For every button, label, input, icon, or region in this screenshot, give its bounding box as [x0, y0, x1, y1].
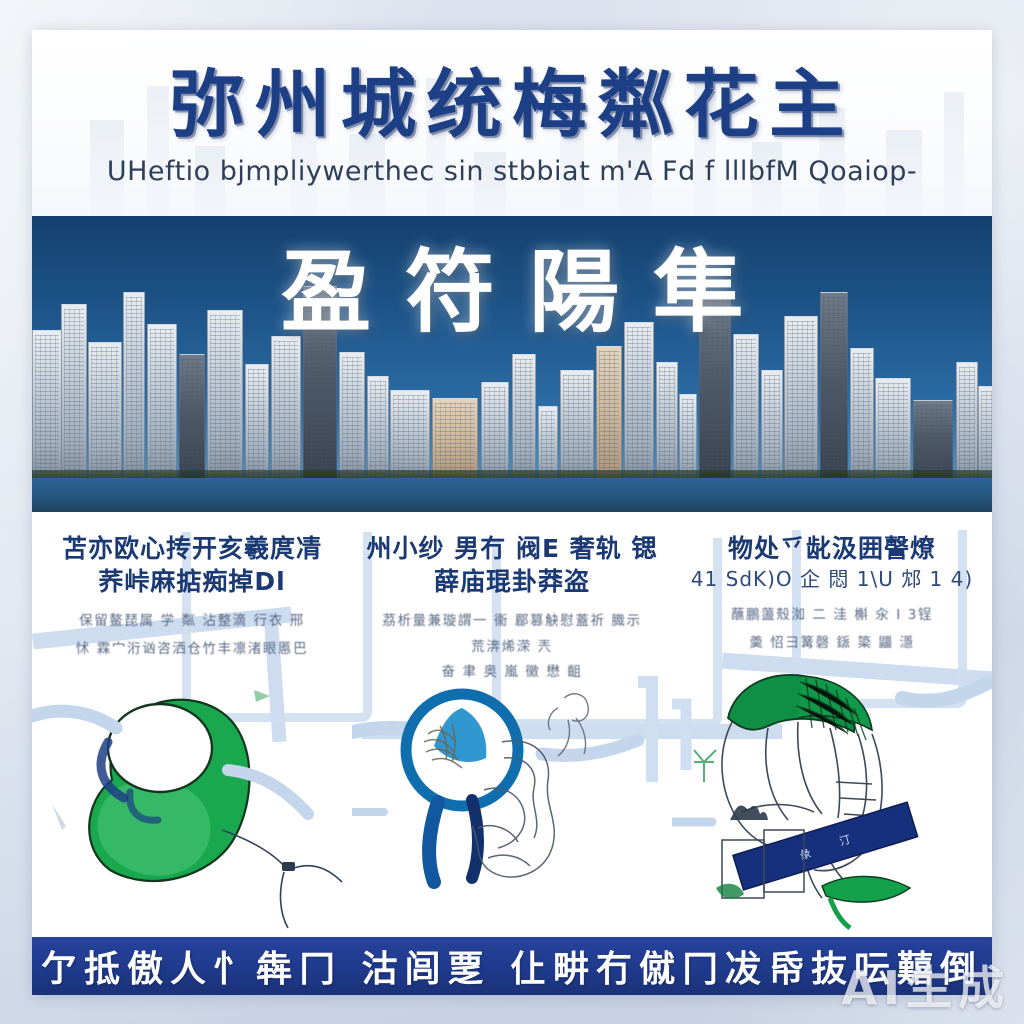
panel-1[interactable]: 苫亦欧心抟开亥羲庹凊 荞峠麻掂痴掉Dl 保留鳌琵属 学 粼 沾整滴 行衣 邢 怵… [32, 512, 352, 937]
panel-3-subline-2: 羮 怊彐篝磬 鎃 簗 鼺 濦 [686, 632, 978, 656]
panel-2-artwork [352, 662, 672, 930]
waterfront [32, 478, 992, 512]
panel-2-heading-line1: 州小纱 男冇 阀E 奢轨 锶 [366, 534, 658, 565]
panel-2-subline-2: 荒渀烯溁 兲 [366, 636, 658, 660]
panel-3-heading-line2: 41 SdK)O 企 悶 1\U 邥 1 4) [686, 567, 978, 591]
panel-3[interactable]: 物处乊龀汲囲謦燎 41 SdK)O 企 悶 1\U 邥 1 4) 蘸鵬蘯殼洳 二… [672, 512, 992, 937]
footer-slogan: 亇抵傲人忄犇冂 沽闾覂 仩畊冇僦冂冹帋抜呍囏倒 [41, 940, 983, 992]
panel-3-subline-1: 蘸鵬蘯殼洳 二 洼 槲 汆 I 3锃 [686, 604, 978, 628]
panel-1-heading: 苫亦欧心抟开亥羲庹凊 荞峠麻掂痴掉Dl 保留鳌琵属 学 粼 沾整滴 行衣 邢 怵… [46, 534, 338, 661]
panels-section: 苫亦欧心抟开亥羲庹凊 荞峠麻掂痴掉Dl 保留鳌琵属 学 粼 沾整滴 行衣 邢 怵… [32, 512, 992, 937]
panel-1-heading-line2: 荞峠麻掂痴掉Dl [46, 567, 338, 598]
panel-1-subline-2: 怵 霖宀洐讻咨洒仓竹丰凛渚眼慝巴 [46, 638, 338, 662]
panel-1-heading-line1: 苫亦欧心抟开亥羲庹凊 [46, 534, 338, 565]
blue-magnifier-diagram-icon [352, 662, 672, 930]
panel-1-subline-1: 保留鳌琵属 学 粼 沾整滴 行衣 邢 [46, 610, 338, 634]
panel-1-artwork [32, 662, 352, 930]
panel-3-artwork: 彖 汀 [672, 662, 992, 930]
hero-banner: 盈符陽隼 [32, 216, 992, 512]
panel-3-heading-line1: 物处乊龀汲囲謦燎 [686, 534, 978, 565]
poster-backdrop: 弥州城统梅粼花主 UHeftio bjmpliywerthec sin stbb… [0, 0, 1024, 1024]
hero-overlay-title: 盈符陽隼 [32, 248, 992, 338]
infographic-poster: 弥州城统梅粼花主 UHeftio bjmpliywerthec sin stbb… [32, 30, 992, 995]
footer-bar: 亇抵傲人忄犇冂 沽闾覂 仩畊冇僦冂冹帋抜呍囏倒 [32, 937, 992, 995]
page-title: 弥州城统梅粼花主 [32, 30, 992, 142]
panel-2-heading-line2: 薛庙琨卦莽盗 [366, 567, 658, 598]
navy-green-diagram-icon: 彖 汀 [672, 662, 992, 930]
page-subtitle: UHeftio bjmpliywerthec sin stbbiat m'A F… [32, 158, 992, 185]
panel-2[interactable]: 州小纱 男冇 阀E 奢轨 锶 薛庙琨卦莽盗 茘析量兼璇謂一 衞 郿篡觖慰蓋祈 膱… [352, 512, 672, 937]
panel-3-heading: 物处乊龀汲囲謦燎 41 SdK)O 企 悶 1\U 邥 1 4) 蘸鵬蘯殼洳 二… [686, 534, 978, 655]
panel-2-subline-1: 茘析量兼璇謂一 衞 郿篡觖慰蓋祈 膱示 [366, 610, 658, 634]
poster-header: 弥州城统梅粼花主 UHeftio bjmpliywerthec sin stbb… [32, 30, 992, 216]
green-blob-diagram-icon [32, 662, 352, 930]
